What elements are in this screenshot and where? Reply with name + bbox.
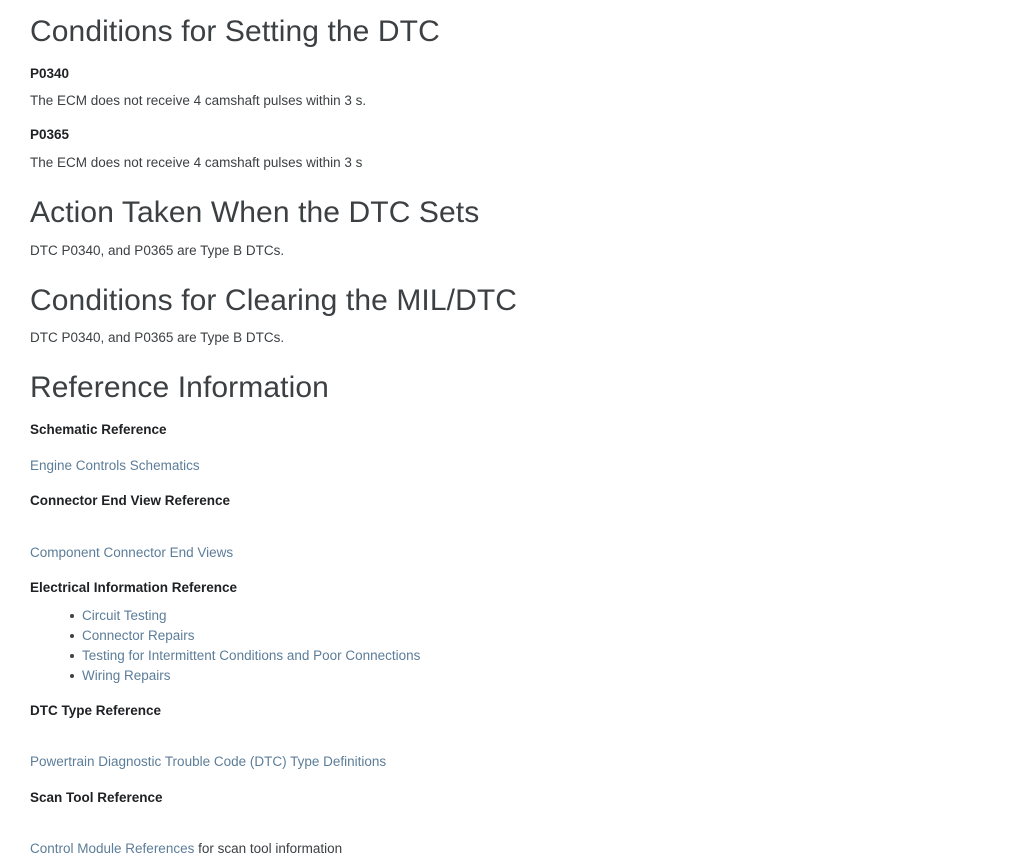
link-circuit-testing[interactable]: Circuit Testing <box>82 608 167 623</box>
label-connector-end-view-reference: Connector End View Reference <box>30 476 1017 510</box>
heading-conditions-clearing: Conditions for Clearing the MIL/DTC <box>30 260 1017 320</box>
document-page: Conditions for Setting the DTC P0340 The… <box>0 0 1017 860</box>
electrical-information-link-list: Circuit Testing Connector Repairs Testin… <box>30 597 1017 686</box>
link-component-connector-end-views[interactable]: Component Connector End Views <box>30 545 233 560</box>
dtc-condition-text-p0340: The ECM does not receive 4 camshaft puls… <box>30 82 1017 110</box>
link-control-module-references[interactable]: Control Module References <box>30 841 194 856</box>
scan-tool-reference-links: Control Module References for scan tool … <box>30 806 1017 860</box>
label-dtc-type-reference: DTC Type Reference <box>30 686 1017 720</box>
label-scan-tool-reference: Scan Tool Reference <box>30 773 1017 807</box>
link-wiring-repairs[interactable]: Wiring Repairs <box>82 668 171 683</box>
dtc-condition-text-p0365: The ECM does not receive 4 camshaft puls… <box>30 144 1017 172</box>
scan-tool-trailing-text: for scan tool information <box>194 841 342 856</box>
list-item: Testing for Intermittent Conditions and … <box>70 646 1017 666</box>
connector-end-view-links: Component Connector End Views <box>30 510 1017 564</box>
label-electrical-information-reference: Electrical Information Reference <box>30 563 1017 597</box>
heading-reference-information: Reference Information <box>30 347 1017 407</box>
heading-conditions-setting: Conditions for Setting the DTC <box>30 0 1017 51</box>
heading-action-taken: Action Taken When the DTC Sets <box>30 172 1017 232</box>
link-connector-repairs[interactable]: Connector Repairs <box>82 628 195 643</box>
conditions-clearing-body: DTC P0340, and P0365 are Type B DTCs. <box>30 319 1017 347</box>
list-item: Circuit Testing <box>70 606 1017 626</box>
dtc-code-label-p0365: P0365 <box>30 110 1017 144</box>
schematic-reference-links: Engine Controls Schematics <box>30 439 1017 477</box>
label-schematic-reference: Schematic Reference <box>30 407 1017 439</box>
list-item: Wiring Repairs <box>70 666 1017 686</box>
link-engine-controls-schematics[interactable]: Engine Controls Schematics <box>30 458 200 473</box>
dtc-code-label-p0340: P0340 <box>30 51 1017 83</box>
dtc-type-reference-links: Powertrain Diagnostic Trouble Code (DTC)… <box>30 719 1017 773</box>
action-taken-body: DTC P0340, and P0365 are Type B DTCs. <box>30 232 1017 260</box>
link-powertrain-dtc-type-definitions[interactable]: Powertrain Diagnostic Trouble Code (DTC)… <box>30 754 386 769</box>
link-testing-intermittent-conditions[interactable]: Testing for Intermittent Conditions and … <box>82 648 420 663</box>
list-item: Connector Repairs <box>70 626 1017 646</box>
